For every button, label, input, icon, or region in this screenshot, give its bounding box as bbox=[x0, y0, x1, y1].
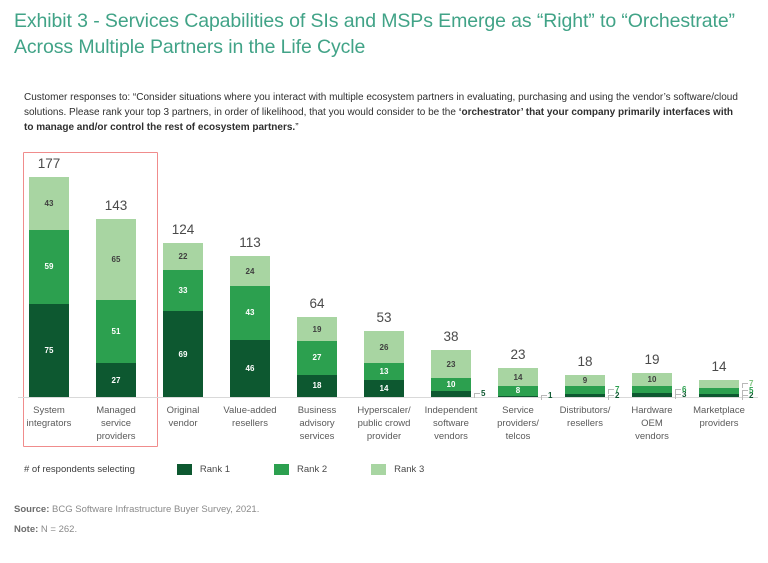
legend-item-2[interactable]: Rank 2 bbox=[274, 464, 327, 475]
segment-value-label: 19 bbox=[313, 325, 322, 334]
category-label-line: resellers bbox=[218, 417, 282, 430]
segment-value-label: 18 bbox=[313, 381, 322, 390]
segment-callout-label: 5 bbox=[481, 389, 485, 398]
bar-segment-r2[interactable]: 33 bbox=[163, 270, 203, 311]
category-label-line: public crowd bbox=[352, 417, 416, 430]
bar-segment-r1[interactable]: 27 bbox=[96, 363, 136, 397]
segment-value-label: 14 bbox=[514, 373, 523, 382]
segment-value-label: 46 bbox=[246, 364, 255, 373]
callout-leader-line bbox=[474, 393, 480, 398]
segment-value-label: 13 bbox=[380, 367, 389, 376]
category-label-7: Independentsoftwarevendors bbox=[419, 404, 483, 443]
bar-stack[interactable]: 435975 bbox=[29, 177, 69, 397]
bar-total-label: 177 bbox=[20, 156, 78, 171]
callout-leader-line bbox=[608, 395, 614, 400]
segment-value-label: 26 bbox=[380, 343, 389, 352]
segment-callout-label: 7 bbox=[749, 379, 753, 388]
legend-caption: # of respondents selecting bbox=[24, 464, 135, 475]
category-label-5: Businessadvisoryservices bbox=[285, 404, 349, 443]
bar-stack[interactable]: 244346 bbox=[230, 256, 270, 397]
bar-segment-r2[interactable]: 13 bbox=[364, 363, 404, 379]
note-text: N = 262. bbox=[38, 524, 77, 535]
category-label-line: Hardware bbox=[620, 404, 684, 417]
segment-value-label: 8 bbox=[516, 386, 520, 395]
callout-leader-line bbox=[608, 389, 614, 394]
bar-segment-r1[interactable] bbox=[431, 391, 471, 397]
bar-segment-r1[interactable]: 18 bbox=[297, 375, 337, 397]
category-label-line: Independent bbox=[419, 404, 483, 417]
bar-segment-r2[interactable]: 8 bbox=[498, 386, 538, 396]
segment-value-label: 24 bbox=[246, 267, 255, 276]
category-label-2: Managedserviceproviders bbox=[84, 404, 148, 443]
segment-value-label: 33 bbox=[179, 286, 188, 295]
category-label-4: Value-addedresellers bbox=[218, 404, 282, 430]
legend-label: Rank 2 bbox=[297, 464, 327, 475]
bar-total-label: 124 bbox=[154, 222, 212, 237]
bar-stack[interactable] bbox=[699, 380, 739, 397]
bar-total-label: 18 bbox=[556, 354, 614, 369]
bar-segment-r1[interactable] bbox=[565, 394, 605, 396]
question-text-part2: ” bbox=[295, 122, 298, 133]
legend-label: Rank 1 bbox=[200, 464, 230, 475]
bar-segment-r3[interactable]: 10 bbox=[632, 373, 672, 385]
source-text: BCG Software Infrastructure Buyer Survey… bbox=[49, 504, 259, 515]
legend-items: Rank 1Rank 2Rank 3 bbox=[177, 464, 468, 475]
category-label-10: HardwareOEMvendors bbox=[620, 404, 684, 443]
bar-stack[interactable]: 2310 bbox=[431, 350, 471, 397]
bar-segment-r2[interactable]: 43 bbox=[230, 286, 270, 340]
bar-segment-r1[interactable]: 75 bbox=[29, 304, 69, 397]
category-label-9: Distributors/resellers bbox=[553, 404, 617, 430]
note-row: Note: N = 262. bbox=[14, 520, 259, 540]
bar-segment-r2[interactable]: 27 bbox=[297, 341, 337, 375]
legend-swatch-icon bbox=[371, 464, 386, 475]
bar-segment-r2[interactable]: 51 bbox=[96, 300, 136, 363]
bar-segment-r3[interactable]: 24 bbox=[230, 256, 270, 286]
segment-value-label: 10 bbox=[648, 375, 657, 384]
category-label-line: service bbox=[84, 417, 148, 430]
source-row: Source: BCG Software Infrastructure Buye… bbox=[14, 500, 259, 520]
category-label-line: Hyperscaler/ bbox=[352, 404, 416, 417]
bar-total-label: 143 bbox=[87, 198, 145, 213]
bar-segment-r2[interactable] bbox=[565, 386, 605, 395]
bar-total-label: 64 bbox=[288, 296, 346, 311]
category-label-line: Distributors/ bbox=[553, 404, 617, 417]
segment-value-label: 14 bbox=[380, 384, 389, 393]
bar-total-label: 19 bbox=[623, 352, 681, 367]
segment-value-label: 43 bbox=[45, 199, 54, 208]
category-label-line: Managed bbox=[84, 404, 148, 417]
bar-segment-r1[interactable] bbox=[632, 393, 672, 397]
category-label-line: Business bbox=[285, 404, 349, 417]
bar-segment-r3[interactable]: 23 bbox=[431, 350, 471, 379]
category-label-line: provider bbox=[352, 430, 416, 443]
bar-segment-r2[interactable] bbox=[632, 386, 672, 393]
category-label-3: Originalvendor bbox=[151, 404, 215, 430]
bar-segment-r3[interactable] bbox=[699, 380, 739, 389]
bar-segment-r3[interactable]: 26 bbox=[364, 331, 404, 363]
category-label-line: advisory bbox=[285, 417, 349, 430]
bar-stack[interactable]: 148 bbox=[498, 368, 538, 397]
category-label-line: services bbox=[285, 430, 349, 443]
category-label-line: telcos bbox=[486, 430, 550, 443]
category-label-line: vendors bbox=[419, 430, 483, 443]
legend-swatch-icon bbox=[274, 464, 289, 475]
segment-value-label: 27 bbox=[313, 353, 322, 362]
bar-total-label: 38 bbox=[422, 329, 480, 344]
segment-callout-label: 1 bbox=[548, 391, 552, 400]
segment-callout-label: 7 bbox=[615, 385, 619, 394]
bar-total-label: 23 bbox=[489, 347, 547, 362]
bar-segment-r2[interactable]: 10 bbox=[431, 378, 471, 390]
category-label-line: resellers bbox=[553, 417, 617, 430]
category-label-line: Service bbox=[486, 404, 550, 417]
page-title: Exhibit 3 - Services Capabilities of SIs… bbox=[14, 8, 744, 60]
bar-segment-r3[interactable]: 14 bbox=[498, 368, 538, 385]
bar-segment-r1[interactable] bbox=[498, 396, 538, 397]
segment-value-label: 23 bbox=[447, 360, 456, 369]
bar-segment-r2[interactable]: 59 bbox=[29, 230, 69, 303]
bar-stack[interactable]: 223369 bbox=[163, 243, 203, 397]
segment-value-label: 10 bbox=[447, 380, 456, 389]
bar-segment-r1[interactable]: 69 bbox=[163, 311, 203, 397]
segment-value-label: 75 bbox=[45, 346, 54, 355]
category-label-line: integrators bbox=[17, 417, 81, 430]
segment-value-label: 43 bbox=[246, 308, 255, 317]
bar-segment-r1[interactable]: 46 bbox=[230, 340, 270, 397]
callout-leader-line bbox=[742, 383, 748, 388]
bar-stack[interactable]: 655127 bbox=[96, 219, 136, 397]
bar-segment-r1[interactable]: 14 bbox=[364, 380, 404, 397]
callout-leader-line bbox=[541, 395, 547, 400]
axis-baseline bbox=[18, 397, 758, 398]
legend-item-3[interactable]: Rank 3 bbox=[371, 464, 424, 475]
segment-value-label: 27 bbox=[112, 376, 121, 385]
category-label-line: System bbox=[17, 404, 81, 417]
bar-segment-r3[interactable]: 65 bbox=[96, 219, 136, 300]
bar-total-label: 113 bbox=[221, 235, 279, 250]
segment-value-label: 69 bbox=[179, 350, 188, 359]
callout-leader-line bbox=[742, 395, 748, 400]
callout-leader-line bbox=[675, 389, 681, 394]
bar-segment-r3[interactable]: 43 bbox=[29, 177, 69, 231]
callout-leader-line bbox=[742, 390, 748, 395]
segment-value-label: 22 bbox=[179, 252, 188, 261]
category-label-line: vendors bbox=[620, 430, 684, 443]
bar-segment-r3[interactable]: 9 bbox=[565, 375, 605, 386]
legend-label: Rank 3 bbox=[394, 464, 424, 475]
chart-question-text: Customer responses to: “Consider situati… bbox=[24, 90, 742, 135]
chart-legend: # of respondents selecting Rank 1Rank 2R… bbox=[24, 464, 468, 475]
category-label-line: Value-added bbox=[218, 404, 282, 417]
bar-stack[interactable]: 261314 bbox=[364, 331, 404, 397]
legend-swatch-icon bbox=[177, 464, 192, 475]
category-label-line: software bbox=[419, 417, 483, 430]
category-label-6: Hyperscaler/public crowdprovider bbox=[352, 404, 416, 443]
bar-total-label: 53 bbox=[355, 310, 413, 325]
bar-segment-r3[interactable]: 19 bbox=[297, 317, 337, 341]
category-label-line: providers bbox=[84, 430, 148, 443]
segment-value-label: 59 bbox=[45, 262, 54, 271]
category-label-line: Original bbox=[151, 404, 215, 417]
category-label-line: providers/ bbox=[486, 417, 550, 430]
category-label-11: Marketplaceproviders bbox=[687, 404, 751, 430]
segment-callout-label: 6 bbox=[682, 385, 686, 394]
bar-segment-r1[interactable] bbox=[699, 394, 739, 396]
bar-stack[interactable]: 192718 bbox=[297, 317, 337, 397]
note-label: Note: bbox=[14, 524, 38, 535]
bar-total-label: 14 bbox=[690, 359, 748, 374]
bar-stack[interactable]: 9 bbox=[565, 375, 605, 397]
category-label-line: providers bbox=[687, 417, 751, 430]
callout-leader-line bbox=[675, 394, 681, 399]
segment-value-label: 9 bbox=[583, 376, 587, 385]
source-label: Source: bbox=[14, 504, 49, 515]
category-label-line: vendor bbox=[151, 417, 215, 430]
segment-value-label: 51 bbox=[112, 327, 121, 336]
segment-value-label: 65 bbox=[112, 255, 121, 264]
category-label-8: Serviceproviders/telcos bbox=[486, 404, 550, 443]
category-label-1: Systemintegrators bbox=[17, 404, 81, 430]
bar-segment-r3[interactable]: 22 bbox=[163, 243, 203, 270]
category-label-line: Marketplace bbox=[687, 404, 751, 417]
footer: Source: BCG Software Infrastructure Buye… bbox=[14, 500, 259, 540]
legend-item-1[interactable]: Rank 1 bbox=[177, 464, 230, 475]
bar-stack[interactable]: 10 bbox=[632, 373, 672, 397]
category-label-line: OEM bbox=[620, 417, 684, 430]
